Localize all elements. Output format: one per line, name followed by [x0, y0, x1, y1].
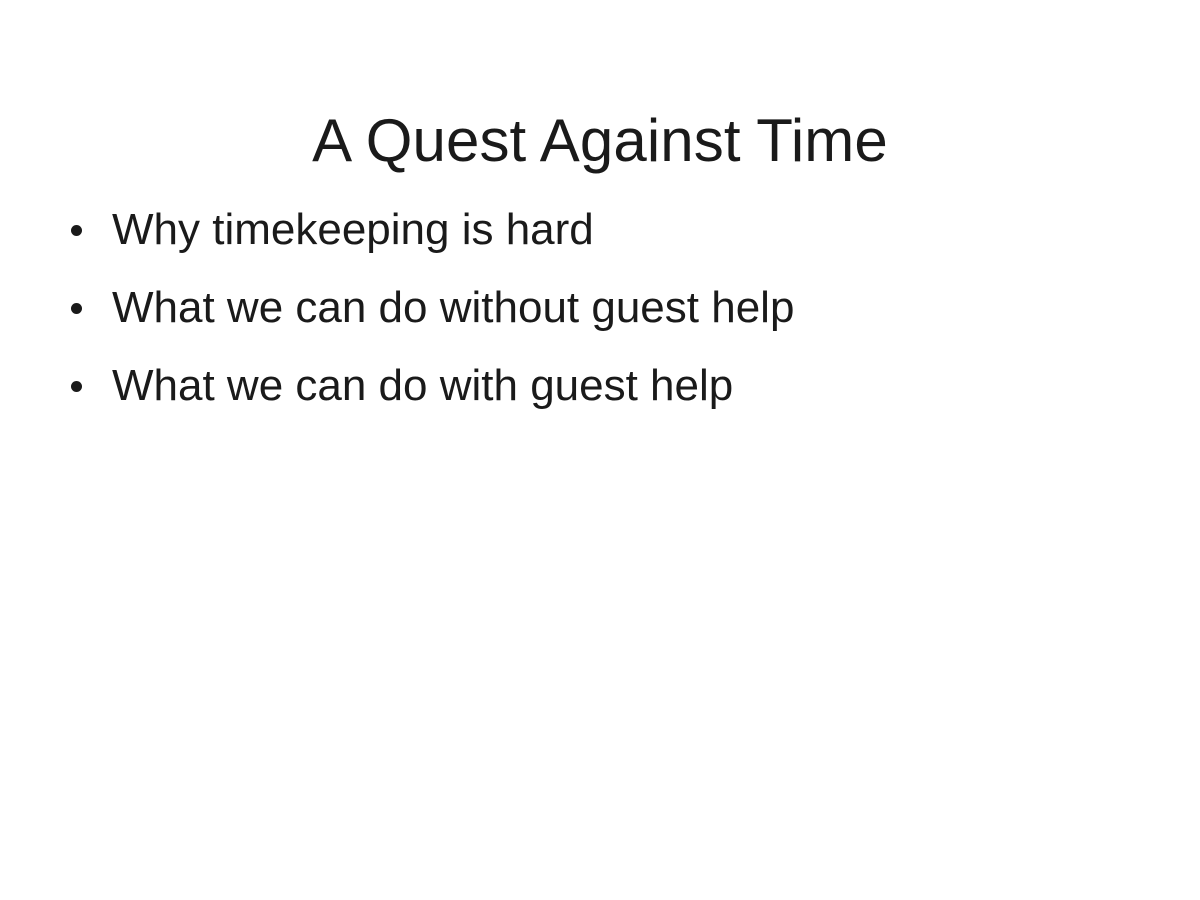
list-item-label: What we can do without guest help — [112, 284, 1136, 332]
bullet-point-icon — [66, 206, 112, 254]
list-item-label: What we can do with guest help — [112, 362, 1136, 410]
bullet-list: Why timekeeping is hard What we can do w… — [66, 206, 1136, 410]
list-item: What we can do with guest help — [66, 362, 1136, 410]
list-item: What we can do without guest help — [66, 284, 1136, 332]
bullet-point-icon — [66, 284, 112, 332]
bullet-point-icon — [66, 362, 112, 410]
presentation-slide: A Quest Against Time Why timekeeping is … — [0, 0, 1200, 900]
page-title: A Quest Against Time — [0, 106, 1200, 177]
list-item: Why timekeeping is hard — [66, 206, 1136, 254]
list-item-label: Why timekeeping is hard — [112, 206, 1136, 254]
